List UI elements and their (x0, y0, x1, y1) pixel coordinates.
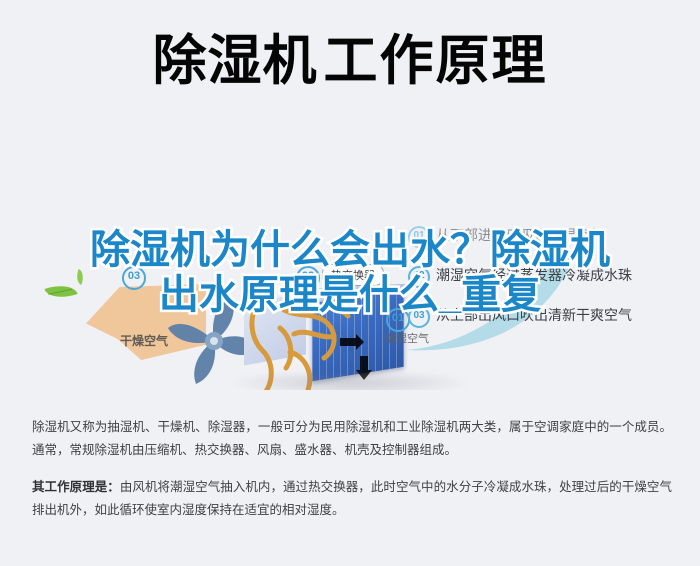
page-root: 除湿机工作原理 干燥空气 (0, 0, 700, 566)
legend-list: 01 从下部进风口吸进潮湿空气 02 潮湿空气经过蒸发器冷凝成水珠 03 从上部… (408, 226, 678, 346)
legend-badge-01: 01 (408, 226, 430, 248)
body-paragraph-2-rest: 由风机将潮湿空气抽入机内，通过热交换器，此时空气中的水分子冷凝成水珠，处理过后的… (32, 480, 672, 517)
body-paragraph-2-lead: 其工作原理是： (32, 480, 120, 494)
body-paragraph-1: 除湿机又称为抽湿机、干燥机、除湿器，一般可分为民用除湿机和工业除湿机两大类，属于… (32, 416, 672, 462)
legend-item: 03 从上部出风口吹出清新干爽空气 (408, 306, 678, 328)
heat-exchanger-callout: 热交换器 (322, 264, 384, 286)
legend-badge-02: 02 (408, 266, 430, 288)
legend-text-01: 从下部进风口吸进潮湿空气 (436, 226, 604, 244)
legend-item: 01 从下部进风口吸进潮湿空气 (408, 226, 678, 248)
page-title-part1: 除湿机 (153, 31, 318, 91)
legend-text-02: 潮湿空气经过蒸发器冷凝成水珠 (436, 266, 632, 284)
page-header: 除湿机工作原理 (0, 22, 700, 100)
diagram-badge-01: 01 (386, 308, 410, 332)
diagram-badge-03: 03 (122, 266, 146, 290)
body-paragraph-2: 其工作原理是：由风机将潮湿空气抽入机内，通过热交换器，此时空气中的水分子冷凝成水… (32, 476, 672, 522)
dry-air-label: 干燥空气 (120, 332, 168, 349)
page-title-part2: 工作原理 (324, 31, 548, 91)
leaf-icon (74, 269, 86, 285)
diagram-badge-02: 02 (296, 266, 320, 290)
illustration-shadow (230, 374, 470, 390)
legend-badge-03: 03 (408, 306, 430, 328)
legend-item: 02 潮湿空气经过蒸发器冷凝成水珠 (408, 266, 678, 288)
page-title: 除湿机工作原理 (153, 34, 548, 88)
leaf-icon (44, 280, 77, 304)
article-body: 除湿机又称为抽湿机、干燥机、除湿器，一般可分为民用除湿机和工业除湿机两大类，属于… (32, 416, 672, 536)
legend-text-03: 从上部出风口吹出清新干爽空气 (436, 306, 632, 324)
